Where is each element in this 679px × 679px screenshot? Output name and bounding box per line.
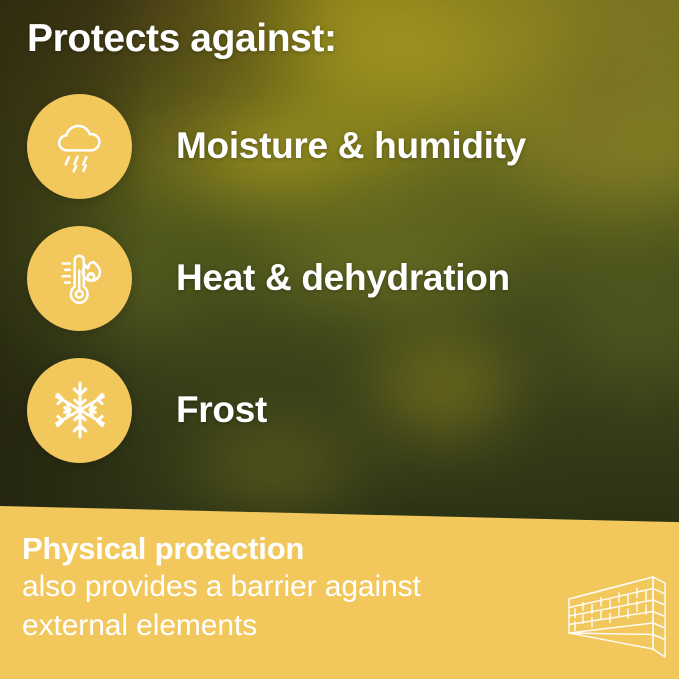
banner-subtitle-line-1: also provides a barrier against bbox=[22, 567, 567, 606]
feature-icon-badge bbox=[27, 94, 132, 199]
feature-icon-badge bbox=[27, 226, 132, 331]
brick-wall-icon bbox=[561, 571, 671, 667]
banner-title: Physical protection bbox=[22, 532, 679, 565]
page-title: Protects against: bbox=[27, 17, 337, 61]
feature-row: Moisture & humidity bbox=[0, 80, 679, 212]
feature-list: Moisture & humidity bbox=[0, 80, 679, 476]
feature-icon-badge bbox=[27, 358, 132, 463]
promo-infographic: Protects against: Moisture & humidity bbox=[0, 0, 679, 679]
rain-cloud-icon bbox=[49, 115, 111, 177]
banner-subtitle: also provides a barrier against external… bbox=[22, 567, 567, 645]
physical-protection-banner: Physical protection also provides a barr… bbox=[0, 494, 679, 679]
feature-label: Moisture & humidity bbox=[176, 125, 526, 167]
thermometer-flame-icon bbox=[49, 247, 111, 309]
feature-label: Heat & dehydration bbox=[176, 257, 510, 299]
feature-row: Frost bbox=[0, 344, 679, 476]
feature-label: Frost bbox=[176, 389, 267, 431]
banner-subtitle-line-2: external elements bbox=[22, 606, 567, 645]
feature-row: Heat & dehydration bbox=[0, 212, 679, 344]
snowflake-icon bbox=[48, 378, 112, 442]
